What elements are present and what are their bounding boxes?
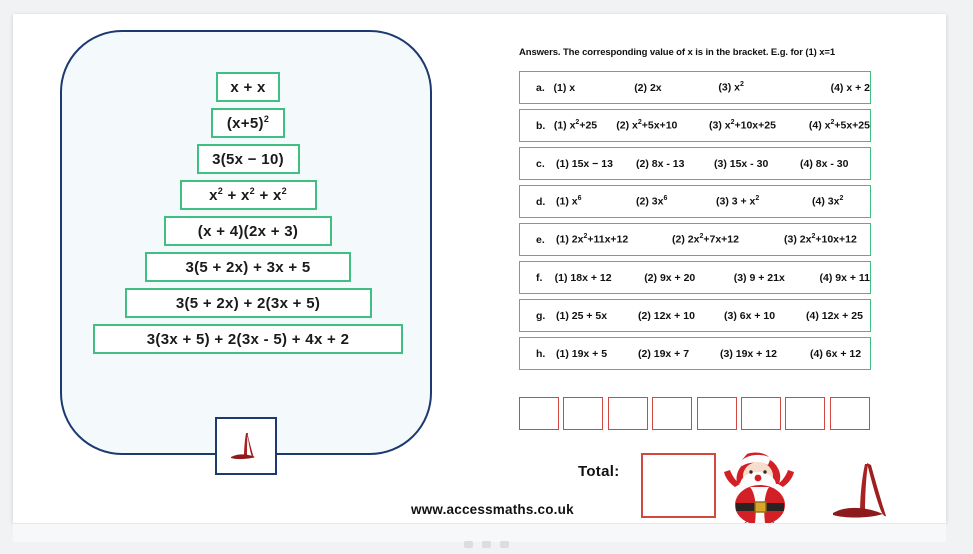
- answer-option[interactable]: (3) 6x + 10: [724, 310, 806, 322]
- answer-row[interactable]: e.(1) 2x2+11x+12(2) 2x2+7x+12(3) 2x2+10x…: [519, 223, 871, 256]
- carousel-dot[interactable]: [464, 541, 473, 548]
- answer-option[interactable]: (4) 12x + 25: [806, 310, 863, 322]
- santa-claus-icon: [717, 447, 803, 531]
- answer-option[interactable]: (3) 15x - 30: [714, 158, 800, 170]
- tree-row[interactable]: 3(3x + 5) + 2(3x - 5) + 4x + 2: [93, 324, 403, 354]
- tree-row[interactable]: x + x: [216, 72, 280, 102]
- tree-panel: x + x(x+5)23(5x − 10)x2 + x2 + x2(x + 4)…: [60, 30, 432, 455]
- answer-input-box[interactable]: [652, 397, 692, 430]
- answer-row-label: g.: [536, 310, 556, 322]
- answers-heading: Answers. The corresponding value of x is…: [519, 47, 875, 58]
- answer-input-box[interactable]: [785, 397, 825, 430]
- answer-option[interactable]: (2) 8x - 13: [636, 158, 714, 170]
- answer-option[interactable]: (1) x6: [556, 195, 636, 208]
- total-row: Total:: [519, 451, 919, 531]
- tree-row[interactable]: 3(5 + 2x) + 3x + 5: [145, 252, 351, 282]
- tree-row-expression: 3(3x + 5) + 2(3x - 5) + 4x + 2: [147, 331, 349, 348]
- carousel-dot[interactable]: [500, 541, 509, 548]
- total-input-box[interactable]: [641, 453, 716, 518]
- answer-row-label: b.: [536, 120, 554, 132]
- answer-option[interactable]: (3) x2: [718, 81, 830, 94]
- answer-input-box[interactable]: [563, 397, 603, 430]
- tree-row-list: x + x(x+5)23(5x − 10)x2 + x2 + x2(x + 4)…: [62, 72, 434, 354]
- carousel-dots[interactable]: [0, 541, 973, 554]
- answer-option[interactable]: (1) 25 + 5x: [556, 310, 638, 322]
- answer-option[interactable]: (4) x2+5x+25: [809, 119, 870, 132]
- answer-row[interactable]: g.(1) 25 + 5x(2) 12x + 10(3) 6x + 10(4) …: [519, 299, 871, 332]
- tree-row-expression: 3(5 + 2x) + 3x + 5: [185, 259, 310, 276]
- answer-input-box[interactable]: [608, 397, 648, 430]
- answer-row-label: c.: [536, 158, 556, 170]
- answer-box-row: [519, 397, 870, 430]
- answer-option[interactable]: (1) 19x + 5: [556, 348, 638, 360]
- answer-input-box[interactable]: [830, 397, 870, 430]
- total-label: Total:: [578, 463, 620, 480]
- answer-input-box[interactable]: [741, 397, 781, 430]
- answer-option[interactable]: (1) x: [554, 82, 635, 94]
- answer-option[interactable]: (3) 2x2+10x+12: [784, 233, 857, 246]
- answer-row[interactable]: d.(1) x6(2) 3x6(3) 3 + x2(4) 3x2: [519, 185, 871, 218]
- tree-row-expression: (x + 4)(2x + 3): [198, 223, 298, 240]
- tree-row[interactable]: (x + 4)(2x + 3): [164, 216, 332, 246]
- answer-option[interactable]: (4) 8x - 30: [800, 158, 848, 170]
- answer-option[interactable]: (3) 19x + 12: [720, 348, 810, 360]
- answer-row[interactable]: b.(1) x2+25(2) x2+5x+10(3) x2+10x+25(4) …: [519, 109, 871, 142]
- answer-option[interactable]: (4) 9x + 11: [820, 272, 871, 284]
- tree-row[interactable]: 3(5 + 2x) + 2(3x + 5): [125, 288, 372, 318]
- viewer-bottom-strip: [13, 523, 946, 542]
- answer-row[interactable]: f.(1) 18x + 12(2) 9x + 20(3) 9 + 21x(4) …: [519, 261, 871, 294]
- answer-row-label: d.: [536, 196, 556, 208]
- tree-row-expression: 3(5 + 2x) + 2(3x + 5): [176, 295, 320, 312]
- answer-row-label: f.: [536, 272, 555, 284]
- tree-row[interactable]: (x+5)2: [211, 108, 285, 138]
- tree-row-expression: (x+5)2: [227, 114, 269, 132]
- answer-option[interactable]: (1) 15x − 13: [556, 158, 636, 170]
- answer-row[interactable]: a.(1) x(2) 2x(3) x2(4) x + 2: [519, 71, 871, 104]
- answer-option[interactable]: (2) 19x + 7: [638, 348, 720, 360]
- answer-row-label: e.: [536, 234, 556, 246]
- answer-row-label: a.: [536, 82, 554, 94]
- answer-input-box[interactable]: [519, 397, 559, 430]
- answer-option[interactable]: (1) 18x + 12: [555, 272, 645, 284]
- tree-trunk-box[interactable]: [215, 417, 277, 475]
- answer-option[interactable]: (2) 12x + 10: [638, 310, 724, 322]
- red-brush-stroke-icon: [829, 455, 899, 527]
- answer-option[interactable]: (2) 2x: [634, 82, 718, 94]
- tree-row-expression: 3(5x − 10): [212, 151, 284, 168]
- answer-row[interactable]: c.(1) 15x − 13(2) 8x - 13(3) 15x - 30(4)…: [519, 147, 871, 180]
- answer-option[interactable]: (3) x2+10x+25: [709, 119, 809, 132]
- worksheet-page: x + x(x+5)23(5x − 10)x2 + x2 + x2(x + 4)…: [13, 14, 946, 523]
- answer-row-label: h.: [536, 348, 556, 360]
- answer-option[interactable]: (3) 3 + x2: [716, 195, 812, 208]
- answer-option[interactable]: (4) 6x + 12: [810, 348, 861, 360]
- answer-option[interactable]: (1) x2+25: [554, 119, 616, 132]
- carousel-dot[interactable]: [482, 541, 491, 548]
- answer-option[interactable]: (2) 9x + 20: [644, 272, 734, 284]
- answer-option[interactable]: (2) 3x6: [636, 195, 716, 208]
- tree-row[interactable]: x2 + x2 + x2: [180, 180, 317, 210]
- answer-option[interactable]: (4) x + 2: [831, 82, 870, 94]
- tree-row-expression: x + x: [230, 79, 265, 96]
- tree-row[interactable]: 3(5x − 10): [197, 144, 300, 174]
- red-brush-stroke-icon: [226, 426, 266, 466]
- answer-option[interactable]: (2) x2+5x+10: [616, 119, 709, 132]
- answer-row-list: a.(1) x(2) 2x(3) x2(4) x + 2b.(1) x2+25(…: [519, 71, 871, 370]
- answer-option[interactable]: (1) 2x2+11x+12: [556, 233, 672, 246]
- answer-option[interactable]: (3) 9 + 21x: [734, 272, 820, 284]
- answer-option[interactable]: (2) 2x2+7x+12: [672, 233, 784, 246]
- answer-row[interactable]: h.(1) 19x + 5(2) 19x + 7(3) 19x + 12(4) …: [519, 337, 871, 370]
- tree-row-expression: x2 + x2 + x2: [209, 186, 287, 204]
- answer-input-box[interactable]: [697, 397, 737, 430]
- answer-option[interactable]: (4) 3x2: [812, 195, 843, 208]
